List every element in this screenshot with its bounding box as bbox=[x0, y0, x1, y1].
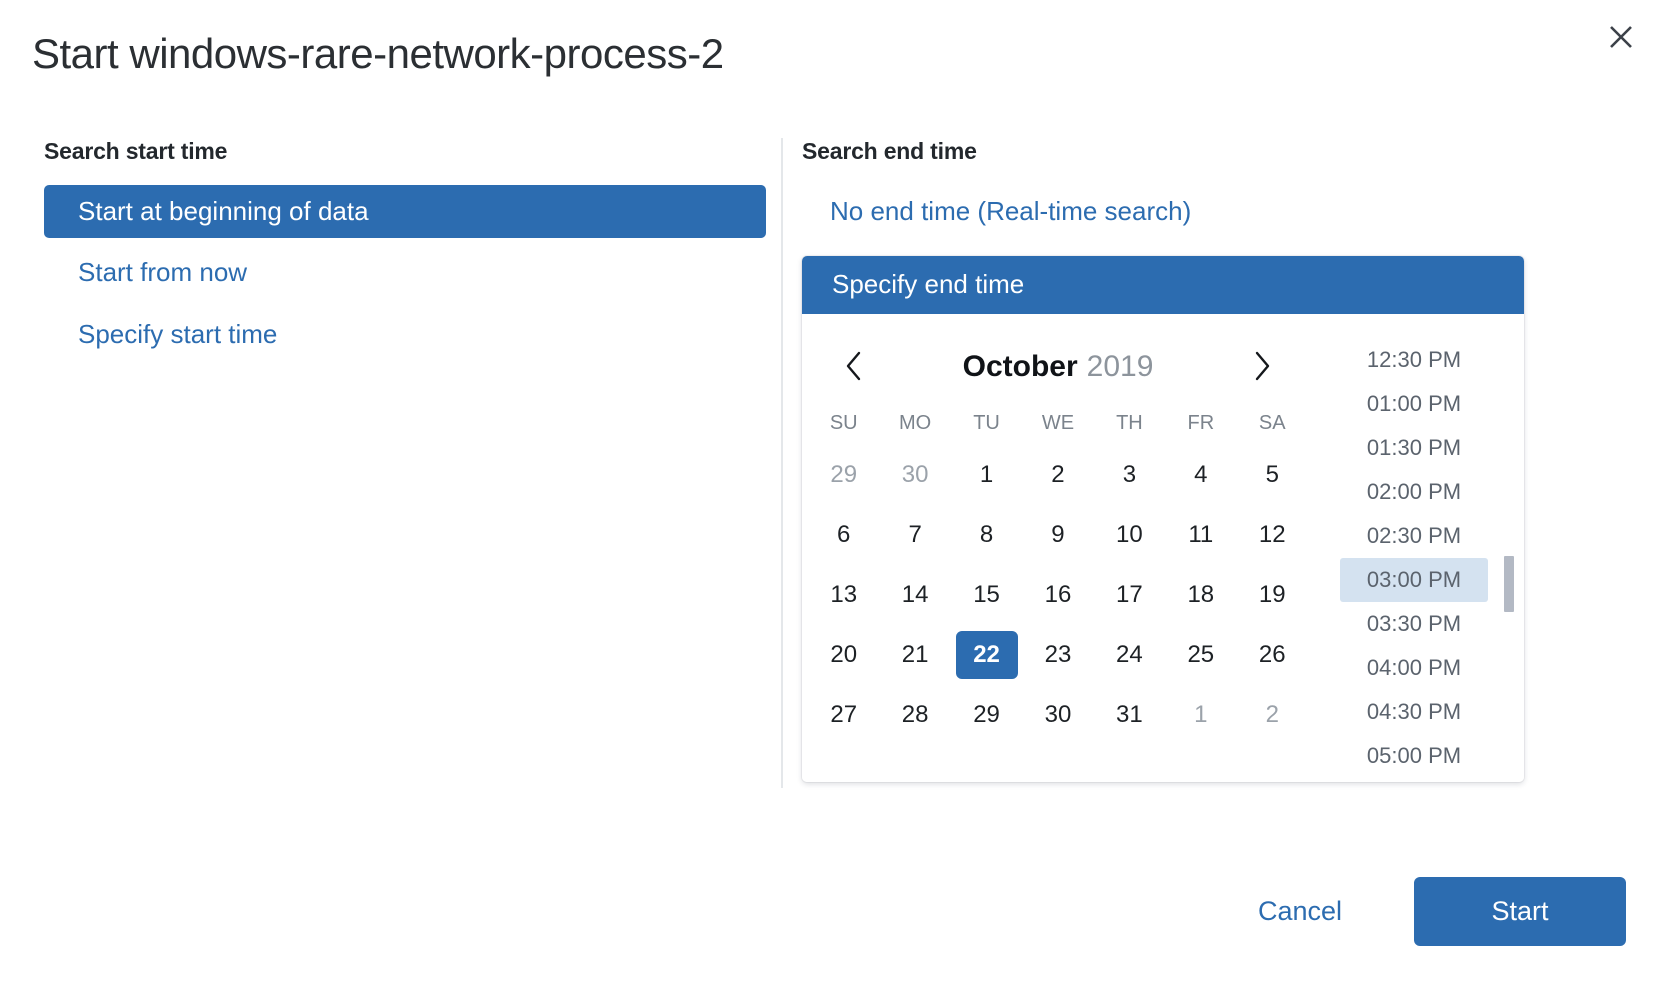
search-end-time-column: Search end time No end time (Real-time s… bbox=[800, 138, 1600, 238]
datetime-picker: October2019 bbox=[802, 314, 1524, 782]
weekday-header: MO bbox=[879, 398, 950, 445]
calendar-cell[interactable]: 26 bbox=[1237, 625, 1308, 685]
time-option[interactable]: 03:30 PM bbox=[1340, 602, 1488, 646]
weekday-header: SU bbox=[808, 398, 879, 445]
calendar-cell[interactable]: 2 bbox=[1022, 445, 1093, 505]
time-option-highlighted[interactable]: 03:00 PM bbox=[1340, 558, 1488, 602]
dialog-footer: Cancel Start bbox=[1224, 877, 1626, 946]
start-option-label: Start at beginning of data bbox=[78, 196, 369, 226]
calendar-cell[interactable]: 1 bbox=[951, 445, 1022, 505]
calendar-week-row: 13 14 15 16 17 18 19 bbox=[808, 565, 1308, 625]
chevron-right-icon bbox=[1251, 349, 1273, 386]
calendar-cell[interactable]: 29 bbox=[808, 445, 879, 505]
start-button[interactable]: Start bbox=[1414, 877, 1626, 946]
calendar-day[interactable]: 4 bbox=[1170, 451, 1232, 499]
dialog-title: Start windows-rare-network-process-2 bbox=[32, 30, 724, 78]
calendar-day[interactable]: 15 bbox=[956, 571, 1018, 619]
calendar-day[interactable]: 5 bbox=[1241, 451, 1303, 499]
calendar-cell[interactable]: 2 bbox=[1237, 685, 1308, 745]
calendar-cell[interactable]: 28 bbox=[879, 685, 950, 745]
calendar-day[interactable]: 10 bbox=[1098, 511, 1160, 559]
calendar-month-year: October2019 bbox=[876, 350, 1240, 384]
time-option[interactable]: 04:30 PM bbox=[1340, 690, 1488, 734]
calendar-cell[interactable]: 30 bbox=[879, 445, 950, 505]
calendar-cell[interactable]: 3 bbox=[1094, 445, 1165, 505]
end-option-label: No end time (Real-time search) bbox=[830, 196, 1191, 226]
calendar-day[interactable]: 1 bbox=[1170, 691, 1232, 739]
calendar-cell[interactable]: 22 bbox=[951, 625, 1022, 685]
chevron-left-icon bbox=[843, 349, 865, 386]
next-month-button[interactable] bbox=[1240, 345, 1284, 389]
calendar-day[interactable]: 23 bbox=[1027, 631, 1089, 679]
time-list[interactable]: 12:30 PM 01:00 PM 01:30 PM 02:00 PM 02:3… bbox=[1314, 338, 1524, 778]
calendar-cell[interactable]: 13 bbox=[808, 565, 879, 625]
calendar-cell[interactable]: 9 bbox=[1022, 505, 1093, 565]
calendar-cell[interactable]: 18 bbox=[1165, 565, 1236, 625]
cancel-button[interactable]: Cancel bbox=[1224, 882, 1376, 941]
time-list-scrollbar-thumb[interactable] bbox=[1504, 556, 1514, 612]
calendar-day[interactable]: 17 bbox=[1098, 571, 1160, 619]
weekday-header: TH bbox=[1094, 398, 1165, 445]
calendar-day-selected[interactable]: 22 bbox=[956, 631, 1018, 679]
calendar-day[interactable]: 7 bbox=[884, 511, 946, 559]
calendar-cell[interactable]: 25 bbox=[1165, 625, 1236, 685]
weekday-header: TU bbox=[951, 398, 1022, 445]
calendar-day[interactable]: 12 bbox=[1241, 511, 1303, 559]
time-option[interactable]: 05:00 PM bbox=[1340, 734, 1488, 778]
calendar-cell[interactable]: 24 bbox=[1094, 625, 1165, 685]
calendar-cell[interactable]: 10 bbox=[1094, 505, 1165, 565]
calendar-day[interactable]: 8 bbox=[956, 511, 1018, 559]
calendar-cell[interactable]: 8 bbox=[951, 505, 1022, 565]
calendar-cell[interactable]: 19 bbox=[1237, 565, 1308, 625]
calendar-week-row: 6 7 8 9 10 11 12 bbox=[808, 505, 1308, 565]
calendar-month: October bbox=[963, 350, 1078, 383]
end-option-specify-end-time[interactable]: Specify end time bbox=[802, 256, 1524, 314]
time-option[interactable]: 04:00 PM bbox=[1340, 646, 1488, 690]
calendar-day[interactable]: 24 bbox=[1098, 631, 1160, 679]
start-option-from-now[interactable]: Start from now bbox=[44, 246, 766, 299]
calendar-day[interactable]: 3 bbox=[1098, 451, 1160, 499]
time-list-container: 12:30 PM 01:00 PM 01:30 PM 02:00 PM 02:3… bbox=[1314, 314, 1524, 782]
weekday-header: FR bbox=[1165, 398, 1236, 445]
calendar-day[interactable]: 2 bbox=[1027, 451, 1089, 499]
calendar-day[interactable]: 14 bbox=[884, 571, 946, 619]
calendar-cell[interactable]: 12 bbox=[1237, 505, 1308, 565]
calendar-cell[interactable]: 29 bbox=[951, 685, 1022, 745]
calendar-cell[interactable]: 21 bbox=[879, 625, 950, 685]
calendar-day[interactable]: 20 bbox=[813, 631, 875, 679]
dialog-body: Search start time Start at beginning of … bbox=[0, 138, 1666, 798]
calendar-day[interactable]: 11 bbox=[1170, 511, 1232, 559]
calendar-cell[interactable]: 1 bbox=[1165, 685, 1236, 745]
calendar-cell[interactable]: 7 bbox=[879, 505, 950, 565]
specify-end-time-panel: Specify end time Oc bbox=[802, 256, 1524, 782]
calendar-day[interactable]: 29 bbox=[956, 691, 1018, 739]
time-option[interactable]: 02:00 PM bbox=[1340, 470, 1488, 514]
calendar-day[interactable]: 25 bbox=[1170, 631, 1232, 679]
calendar-weekday-row: SU MO TU WE TH FR SA bbox=[808, 398, 1308, 445]
calendar-day[interactable]: 30 bbox=[1027, 691, 1089, 739]
calendar-cell[interactable]: 17 bbox=[1094, 565, 1165, 625]
time-option[interactable]: 02:30 PM bbox=[1340, 514, 1488, 558]
calendar-cell[interactable]: 20 bbox=[808, 625, 879, 685]
calendar-day[interactable]: 2 bbox=[1241, 691, 1303, 739]
calendar-cell[interactable]: 5 bbox=[1237, 445, 1308, 505]
search-start-time-heading: Search start time bbox=[44, 138, 780, 165]
calendar-cell[interactable]: 14 bbox=[879, 565, 950, 625]
calendar-cell[interactable]: 27 bbox=[808, 685, 879, 745]
calendar-day[interactable]: 16 bbox=[1027, 571, 1089, 619]
time-option[interactable]: 12:30 PM bbox=[1340, 338, 1488, 382]
start-option-beginning-of-data[interactable]: Start at beginning of data bbox=[44, 185, 766, 238]
calendar-day[interactable]: 21 bbox=[884, 631, 946, 679]
calendar-day[interactable]: 29 bbox=[813, 451, 875, 499]
calendar-cell[interactable]: 15 bbox=[951, 565, 1022, 625]
calendar-weeks: 29 30 1 2 3 4 5 6 7 8 bbox=[808, 445, 1308, 745]
calendar-day[interactable]: 6 bbox=[813, 511, 875, 559]
calendar-day[interactable]: 13 bbox=[813, 571, 875, 619]
calendar-day[interactable]: 26 bbox=[1241, 631, 1303, 679]
column-divider bbox=[781, 138, 783, 788]
calendar-cell[interactable]: 23 bbox=[1022, 625, 1093, 685]
calendar-cell[interactable]: 11 bbox=[1165, 505, 1236, 565]
start-option-specify-start-time[interactable]: Specify start time bbox=[44, 308, 766, 361]
calendar-cell[interactable]: 30 bbox=[1022, 685, 1093, 745]
search-start-time-column: Search start time Start at beginning of … bbox=[44, 138, 780, 361]
calendar-day[interactable]: 19 bbox=[1241, 571, 1303, 619]
calendar-grid: SU MO TU WE TH FR SA 29 bbox=[808, 398, 1308, 745]
prev-month-button[interactable] bbox=[832, 345, 876, 389]
calendar: October2019 bbox=[802, 314, 1314, 782]
calendar-day[interactable]: 30 bbox=[884, 451, 946, 499]
calendar-year: 2019 bbox=[1087, 350, 1154, 383]
calendar-cell[interactable]: 31 bbox=[1094, 685, 1165, 745]
end-option-label: Specify end time bbox=[832, 269, 1024, 299]
calendar-cell[interactable]: 16 bbox=[1022, 565, 1093, 625]
weekday-header: SA bbox=[1237, 398, 1308, 445]
calendar-day[interactable]: 28 bbox=[884, 691, 946, 739]
weekday-header: WE bbox=[1022, 398, 1093, 445]
calendar-header: October2019 bbox=[808, 336, 1308, 398]
calendar-day[interactable]: 18 bbox=[1170, 571, 1232, 619]
calendar-day[interactable]: 31 bbox=[1098, 691, 1160, 739]
calendar-cell[interactable]: 4 bbox=[1165, 445, 1236, 505]
calendar-week-row: 20 21 22 23 24 25 26 bbox=[808, 625, 1308, 685]
calendar-cell[interactable]: 6 bbox=[808, 505, 879, 565]
end-option-no-end-time[interactable]: No end time (Real-time search) bbox=[800, 185, 1600, 238]
calendar-day[interactable]: 9 bbox=[1027, 511, 1089, 559]
calendar-day[interactable]: 1 bbox=[956, 451, 1018, 499]
search-end-time-heading: Search end time bbox=[802, 138, 1600, 165]
close-button[interactable] bbox=[1598, 14, 1644, 60]
time-option[interactable]: 01:30 PM bbox=[1340, 426, 1488, 470]
start-option-label: Start from now bbox=[78, 257, 247, 287]
calendar-week-row: 29 30 1 2 3 4 5 bbox=[808, 445, 1308, 505]
time-option[interactable]: 01:00 PM bbox=[1340, 382, 1488, 426]
time-list-scrollbar[interactable] bbox=[1504, 338, 1514, 778]
calendar-week-row: 27 28 29 30 31 1 2 bbox=[808, 685, 1308, 745]
close-icon bbox=[1606, 22, 1636, 52]
calendar-day[interactable]: 27 bbox=[813, 691, 875, 739]
start-option-label: Specify start time bbox=[78, 319, 277, 349]
